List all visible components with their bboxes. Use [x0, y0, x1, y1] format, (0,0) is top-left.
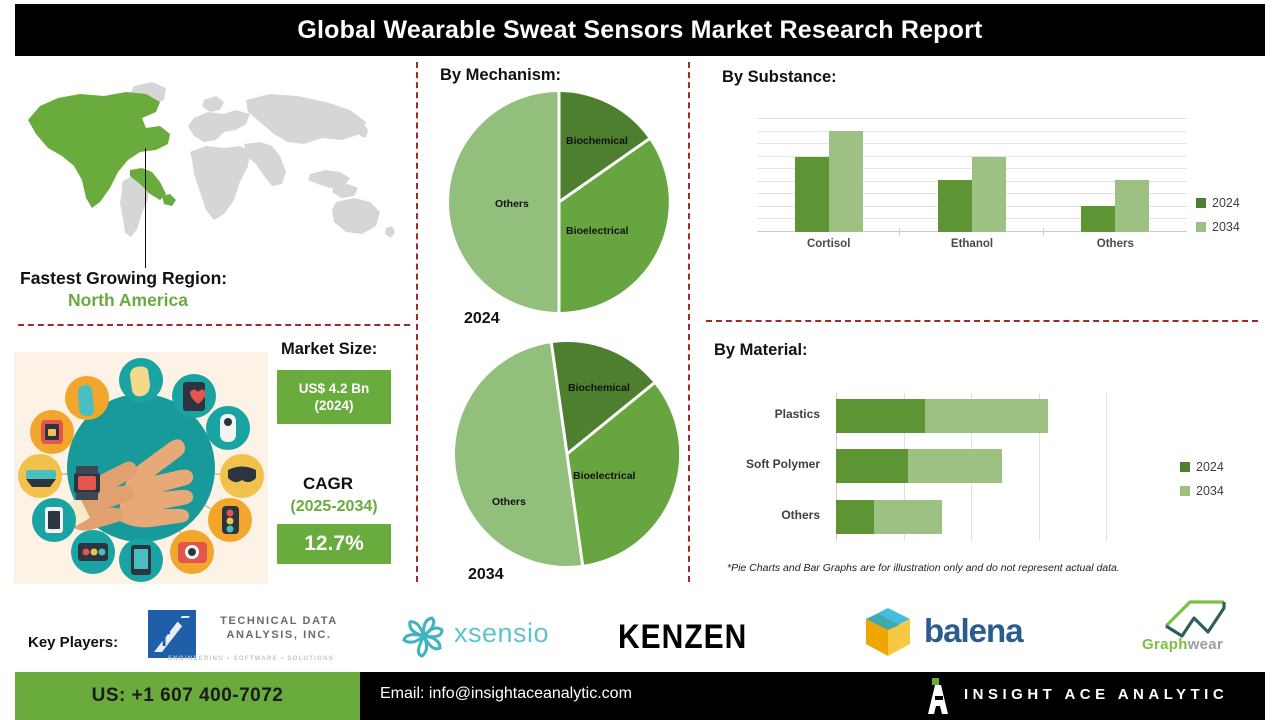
divider-horizontal-right	[706, 320, 1258, 322]
footer-email: Email: info@insightaceanalytic.com	[380, 685, 632, 703]
pie-2034-year: 2034	[468, 566, 504, 584]
material-bar-soft-polymer-2034	[908, 449, 1001, 483]
page-title: Global Wearable Sweat Sensors Market Res…	[297, 16, 982, 45]
cagr-value-box: 12.7%	[277, 524, 391, 564]
material-bar-chart	[836, 393, 1106, 541]
pie-2034-label-bioelectrical: Bioelectrical	[573, 470, 635, 482]
material-legend-row-2024: 2024	[1180, 460, 1224, 474]
pie-2024-label-bioelectrical: Bioelectrical	[566, 225, 628, 237]
substance-legend: 2024 2034	[1196, 196, 1240, 244]
pie-2024-label-biochemical: Biochemical	[566, 135, 628, 147]
kenzen-wordmark: KENZEN	[618, 618, 798, 657]
fastest-growing-region-label: Fastest Growing Region:	[20, 268, 227, 289]
pie-2034-label-biochemical: Biochemical	[568, 382, 630, 394]
balena-mark-icon	[860, 604, 916, 660]
logo-kenzen: KENZEN	[618, 618, 798, 654]
legend-label-2034: 2034	[1212, 220, 1240, 234]
substance-group-cortisol	[757, 118, 900, 232]
market-size-title: Market Size:	[281, 340, 377, 359]
tda-mark: T	[148, 610, 196, 658]
map-pointer-line	[145, 148, 146, 268]
material-bar-others-2024	[836, 500, 874, 534]
pie-chart-2034-svg	[455, 342, 679, 566]
substance-bar-ethanol-2034	[972, 157, 1006, 232]
market-size-value: US$ 4.2 Bn	[299, 380, 370, 397]
legend-swatch-2034	[1196, 222, 1206, 232]
legend-swatch-2024	[1196, 198, 1206, 208]
substance-category-2: Others	[1044, 238, 1187, 250]
divider-vertical-right	[688, 62, 690, 582]
wearables-illustration	[14, 352, 268, 584]
material-bar-soft-polymer-2024	[836, 449, 908, 483]
tda-line1: TECHNICAL DATA	[204, 614, 354, 628]
report-header: Global Wearable Sweat Sensors Market Res…	[15, 4, 1265, 56]
substance-legend-row-2024: 2024	[1196, 196, 1240, 210]
divider-horizontal-left	[18, 324, 410, 326]
material-legend: 2024 2034	[1180, 460, 1224, 508]
substance-bar-cortisol-2024	[795, 157, 829, 232]
charts-footnote: *Pie Charts and Bar Graphs are for illus…	[727, 562, 1120, 574]
substance-legend-row-2034: 2034	[1196, 220, 1240, 234]
cagr-title: CAGR	[303, 474, 353, 494]
logo-graphwear: Graphwear	[1136, 598, 1246, 656]
wearables-illustration-svg	[14, 352, 268, 584]
material-legend-row-2034: 2034	[1180, 484, 1224, 498]
substance-bar-groups	[757, 118, 1187, 232]
pie-2024-year: 2024	[464, 310, 500, 328]
graphwear-mark-icon	[1136, 598, 1240, 640]
substance-category-labels: Cortisol Ethanol Others	[757, 238, 1187, 250]
insight-ace-logo-icon	[916, 676, 956, 716]
substance-group-ethanol	[900, 118, 1043, 232]
logo-technical-data-analysis: T TECHNICAL DATA ANALYSIS, INC. ENGINEER…	[148, 608, 356, 664]
footer-phone: US: +1 607 400-7072	[92, 685, 284, 707]
cagr-range: (2025-2034)	[277, 498, 391, 516]
material-category-0: Plastics	[775, 407, 820, 421]
substance-category-0: Cortisol	[757, 238, 900, 250]
material-row-plastics	[836, 399, 1048, 433]
material-bar-plastics-2024	[836, 399, 925, 433]
substance-bar-cortisol-2034	[829, 131, 863, 232]
substance-bar-others-2024	[1081, 206, 1115, 232]
material-category-labels: Plastics Soft Polymer Others	[700, 393, 828, 541]
material-row-soft-polymer	[836, 449, 1002, 483]
substance-category-1: Ethanol	[900, 238, 1043, 250]
material-gridline-4	[1106, 393, 1107, 541]
logo-balena: balena	[860, 604, 1070, 660]
material-category-2: Others	[781, 508, 820, 522]
section-title-substance: By Substance:	[722, 68, 837, 87]
material-bar-others-2034	[874, 500, 942, 534]
substance-group-others	[1044, 118, 1187, 232]
pie-chart-2024-svg	[449, 92, 669, 312]
material-row-others	[836, 500, 942, 534]
pie-chart-2034	[455, 342, 679, 566]
cagr-value: 12.7%	[304, 532, 364, 556]
svg-text:T: T	[158, 629, 170, 651]
footer-brand-bar: Email: info@insightaceanalytic.com INSIG…	[360, 672, 1265, 720]
legend-label-material-2024: 2024	[1196, 460, 1224, 474]
pie-chart-2024	[449, 92, 669, 312]
section-title-material: By Material:	[714, 341, 808, 360]
world-map	[18, 78, 410, 258]
section-title-mechanism: By Mechanism:	[440, 66, 561, 85]
footer-brand-name: INSIGHT ACE ANALYTIC	[964, 686, 1228, 703]
fastest-growing-region-value: North America	[68, 290, 188, 311]
material-category-1: Soft Polymer	[746, 457, 820, 471]
graphwear-wordmark-b: wear	[1188, 636, 1223, 653]
divider-vertical-left	[416, 62, 418, 582]
map-north-america-highlight	[28, 92, 176, 208]
graphwear-wordmark: Graphwear	[1142, 636, 1223, 653]
pie-2034-label-others: Others	[492, 496, 526, 508]
balena-wordmark: balena	[924, 612, 1023, 650]
substance-bar-chart	[757, 118, 1187, 232]
substance-bar-others-2034	[1115, 180, 1149, 232]
legend-swatch-material-2034	[1180, 486, 1190, 496]
tda-line2: ANALYSIS, INC.	[204, 628, 354, 642]
xsensio-mark-icon	[398, 612, 450, 660]
map-base-continents	[120, 82, 395, 238]
legend-label-material-2034: 2034	[1196, 484, 1224, 498]
substance-bar-ethanol-2024	[938, 180, 972, 232]
world-map-svg	[18, 78, 410, 258]
market-size-value-box: US$ 4.2 Bn (2024)	[277, 370, 391, 424]
market-size-year: (2024)	[314, 397, 353, 414]
graphwear-wordmark-a: Graph	[1142, 636, 1188, 653]
legend-swatch-material-2024	[1180, 462, 1190, 472]
key-players-label: Key Players:	[28, 634, 118, 651]
logo-xsensio: xsensio	[398, 612, 558, 660]
xsensio-wordmark: xsensio	[454, 618, 549, 649]
legend-label-2024: 2024	[1212, 196, 1240, 210]
tda-mark-svg: T	[148, 610, 196, 658]
material-bar-plastics-2034	[925, 399, 1048, 433]
tda-tagline: ENGINEERING • SOFTWARE • SOLUTIONS	[148, 656, 354, 662]
footer-phone-bar: US: +1 607 400-7072	[15, 672, 360, 720]
pie-2024-label-others: Others	[495, 198, 529, 210]
